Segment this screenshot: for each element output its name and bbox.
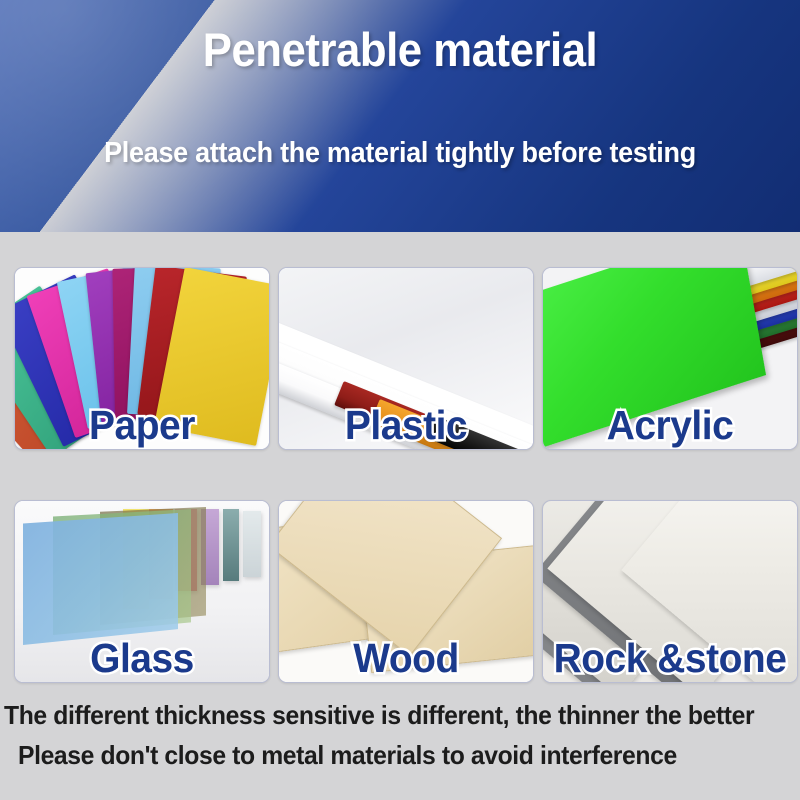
material-card-label: Paper xyxy=(21,404,262,447)
material-card-label: Glass xyxy=(21,637,262,680)
footer-notes: The different thickness sensitive is dif… xyxy=(0,694,800,800)
material-card-label: Plastic xyxy=(285,404,526,447)
material-card-plastic[interactable]: Plastic xyxy=(278,267,534,450)
material-card-label: Rock &stone xyxy=(549,637,790,680)
page-subtitle: Please attach the material tightly befor… xyxy=(28,139,772,168)
material-card-wood[interactable]: Wood xyxy=(278,500,534,683)
material-card-label: Wood xyxy=(285,637,526,680)
material-card-label: Acrylic xyxy=(549,404,790,447)
infographic-page: Penetrable material Please attach the ma… xyxy=(0,0,800,800)
material-card-rock-stone[interactable]: Rock &stone xyxy=(542,500,798,683)
material-grid: Paper Plastic xyxy=(14,267,798,683)
footer-note-thickness: The different thickness sensitive is dif… xyxy=(4,702,754,728)
material-card-acrylic[interactable]: Acrylic xyxy=(542,267,798,450)
footer-note-metal: Please don't close to metal materials to… xyxy=(18,742,677,768)
glass-pane-blue xyxy=(23,513,178,645)
material-card-paper[interactable]: Paper xyxy=(14,267,270,450)
page-title: Penetrable material xyxy=(28,26,772,73)
header-banner: Penetrable material Please attach the ma… xyxy=(0,0,800,232)
material-card-glass[interactable]: Glass xyxy=(14,500,270,683)
